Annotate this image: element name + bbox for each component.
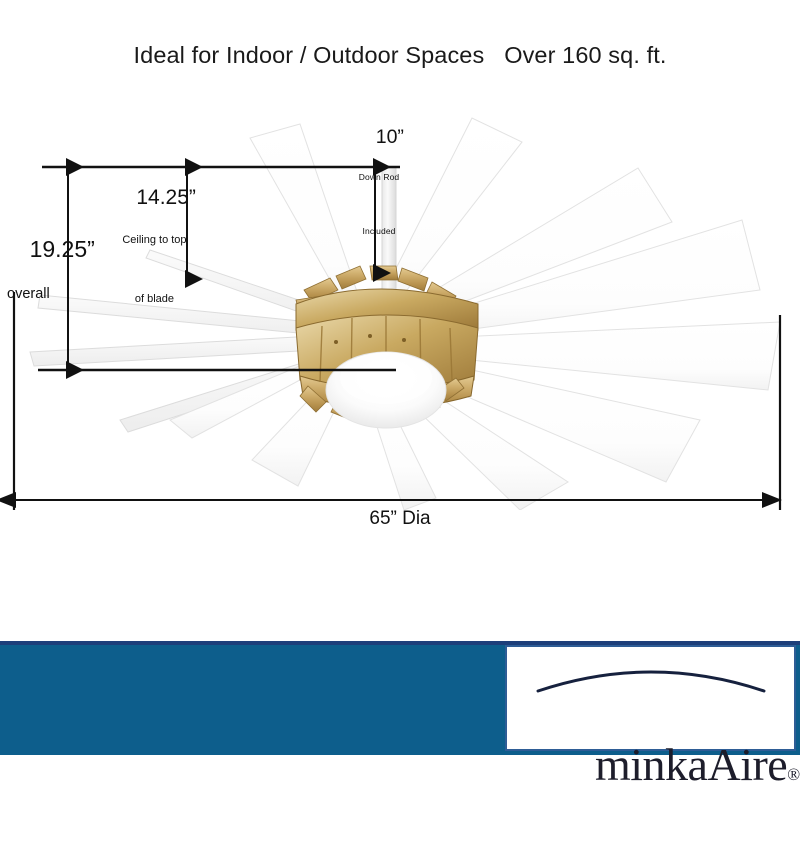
ceiling-to-blade-caption-2: of blade: [113, 293, 196, 307]
spec-diagram-page: Ideal for Indoor / Outdoor Spaces Over 1…: [0, 0, 800, 800]
ceiling-to-blade-caption-1: Ceiling to top: [113, 234, 196, 248]
downrod-caption-1: Down Rod: [347, 172, 411, 183]
page-title: Ideal for Indoor / Outdoor Spaces Over 1…: [0, 42, 800, 69]
overall-height-value: 19.25”: [30, 236, 95, 262]
registered-trademark-icon: ®: [787, 765, 799, 784]
brand-logo-wordmark: minkaAire: [595, 739, 787, 790]
ceiling-to-blade-value: 14.25”: [136, 186, 196, 209]
overall-height-label: 19.25” overall: [4, 212, 95, 353]
downrod-label: 10” Down Rod Included: [347, 106, 411, 279]
ceiling-to-blade-label: 14.25” Ceiling to top of blade: [113, 164, 196, 352]
brand-logo-box: minkaAire®: [505, 645, 796, 751]
downrod-caption-2: Included: [347, 226, 411, 237]
brand-logo-text: minkaAire®: [507, 685, 794, 844]
diameter-label: 65” Dia: [0, 509, 800, 530]
downrod-value: 10”: [376, 126, 404, 148]
overall-height-caption: overall: [7, 287, 95, 303]
